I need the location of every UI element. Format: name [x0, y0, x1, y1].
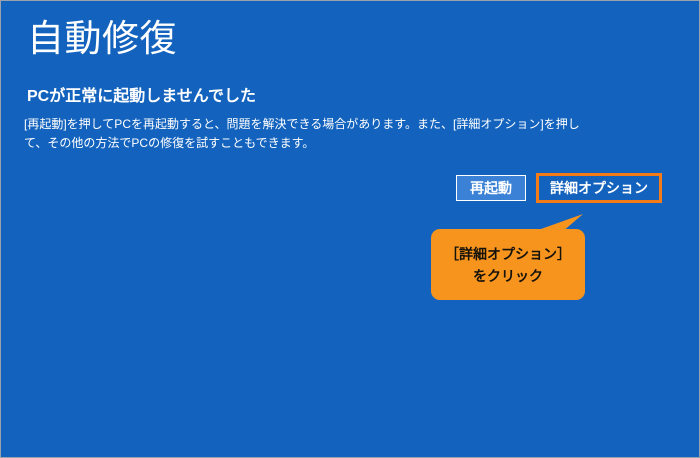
- page-title: 自動修復: [27, 17, 177, 61]
- callout-bubble: ［詳細オプション］ をクリック: [431, 229, 585, 300]
- restart-button[interactable]: 再起動: [456, 175, 526, 201]
- automatic-repair-screen: 自動修復 PCが正常に起動しませんでした [再起動]を押してPCを再起動すると、…: [0, 0, 700, 458]
- status-heading: PCが正常に起動しませんでした: [27, 87, 256, 107]
- callout-line-2: をクリック: [473, 265, 543, 287]
- callout-line-1: ［詳細オプション］: [445, 243, 571, 265]
- instruction-callout: ［詳細オプション］ をクリック: [431, 212, 585, 300]
- advanced-options-button[interactable]: 詳細オプション: [536, 173, 662, 203]
- button-row: 再起動 詳細オプション: [456, 173, 662, 203]
- description-text: [再起動]を押してPCを再起動すると、問題を解決できる場合があります。また、[詳…: [24, 115, 584, 153]
